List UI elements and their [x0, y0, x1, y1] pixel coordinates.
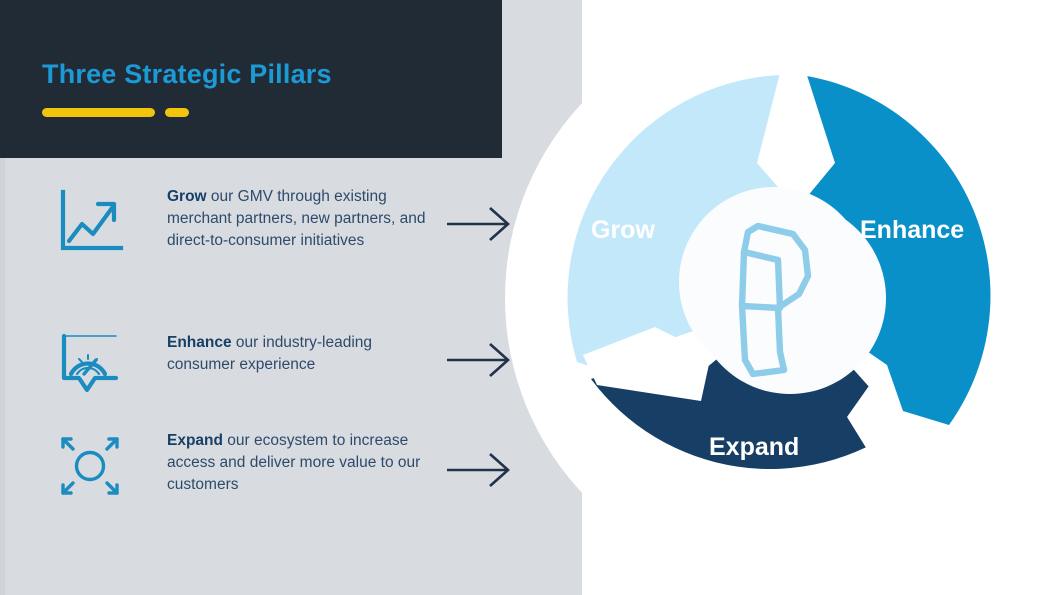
- slide-canvas: Three Strategic Pillars Grow our GMV thr…: [0, 0, 1053, 595]
- segment-label-grow: Grow: [591, 216, 655, 245]
- p-monogram-logo: [700, 210, 850, 382]
- segment-label-expand: Expand: [709, 433, 799, 462]
- cycle-diagram: Grow Enhance Expand: [0, 0, 1053, 595]
- segment-label-enhance: Enhance: [860, 216, 964, 245]
